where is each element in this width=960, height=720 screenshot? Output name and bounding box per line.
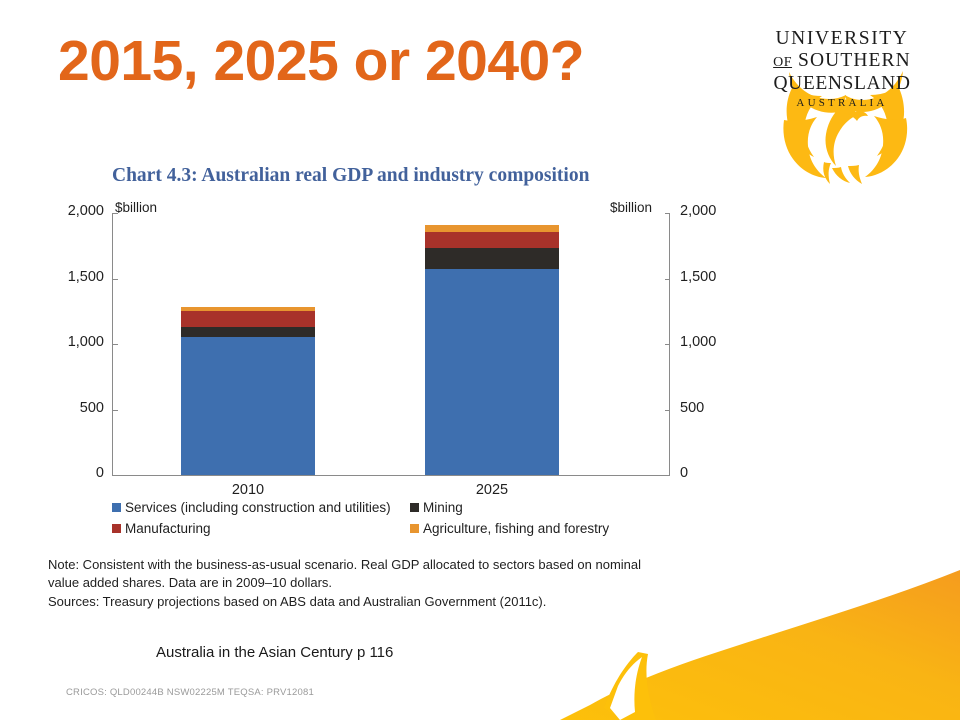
bar-segment-2025-2 [425,232,559,248]
bar-2010: 2010 [181,307,315,475]
chart-note: Note: Consistent with the business-as-us… [48,556,728,611]
y-tick-left-500 [113,410,118,411]
y-tick-label-right-1500: 1,500 [680,269,716,285]
x-axis-label-2025: 2025 [425,482,559,498]
y-tick-right-500 [665,410,670,411]
legend-swatch-icon-0 [112,503,121,512]
logo-line-of-southern: OF SOUTHERN [762,50,922,72]
y-tick-left-1500 [113,279,118,280]
y-tick-right-1500 [665,279,670,280]
bar-2025: 2025 [425,225,559,475]
chart-legend: Services (including construction and uti… [112,500,672,536]
plot-area: 005005001,0001,0001,5001,5002,0002,000 2… [112,213,670,476]
y-tick-left-2000 [113,213,118,214]
logo-line-university: UNIVERSITY [762,28,922,50]
bar-segment-2010-0 [181,337,315,475]
y-tick-label-left-1500: 1,500 [68,269,104,285]
source-caption: Australia in the Asian Century p 116 [156,644,393,661]
legend-label-3: Agriculture, fishing and forestry [423,521,609,536]
y-tick-right-1000 [665,344,670,345]
y-tick-left-1000 [113,344,118,345]
legend-swatch-icon-3 [410,524,419,533]
bar-segment-2010-2 [181,311,315,327]
legend-item-3[interactable]: Agriculture, fishing and forestry [410,521,672,536]
logo-word-of: OF [773,55,792,70]
legend-swatch-icon-1 [410,503,419,512]
legend-item-0[interactable]: Services (including construction and uti… [112,500,410,515]
legend-label-2: Manufacturing [125,521,211,536]
bar-segment-2010-1 [181,327,315,337]
y-tick-label-right-2000: 2,000 [680,203,716,219]
note-line-2: Sources: Treasury projections based on A… [48,593,728,611]
bar-segment-2025-3 [425,225,559,232]
legend-label-1: Mining [423,500,463,515]
logo-word-southern: SOUTHERN [798,50,911,71]
chart-title: Chart 4.3: Australian real GDP and indus… [112,165,589,187]
y-tick-label-left-2000: 2,000 [68,203,104,219]
note-line-0: Note: Consistent with the business-as-us… [48,556,728,574]
legend-swatch-icon-2 [112,524,121,533]
y-tick-label-right-1000: 1,000 [680,334,716,350]
page-title: 2015, 2025 or 2040? [58,32,584,92]
logo-line-australia: AUSTRALIA [762,97,922,109]
note-line-1: value added shares. Data are in 2009–10 … [48,574,728,592]
chart-figure: Chart 4.3: Australian real GDP and indus… [40,160,740,615]
bar-segment-2025-1 [425,248,559,268]
x-axis-label-2010: 2010 [181,482,315,498]
y-tick-label-right-0: 0 [680,465,688,481]
y-tick-label-left-500: 500 [80,400,104,416]
legend-item-1[interactable]: Mining [410,500,672,515]
cricos-footer: CRICOS: QLD00244B NSW02225M TEQSA: PRV12… [66,687,314,698]
y-tick-label-right-500: 500 [680,400,704,416]
usq-logo: UNIVERSITY OF SOUTHERN QUEENSLAND AUSTRA… [762,28,922,186]
y-tick-label-left-1000: 1,000 [68,334,104,350]
legend-item-2[interactable]: Manufacturing [112,521,410,536]
y-tick-right-2000 [665,213,670,214]
bar-segment-2025-0 [425,269,559,475]
logo-line-queensland: QUEENSLAND [762,73,922,95]
legend-label-0: Services (including construction and uti… [125,500,391,515]
y-tick-label-left-0: 0 [96,465,104,481]
